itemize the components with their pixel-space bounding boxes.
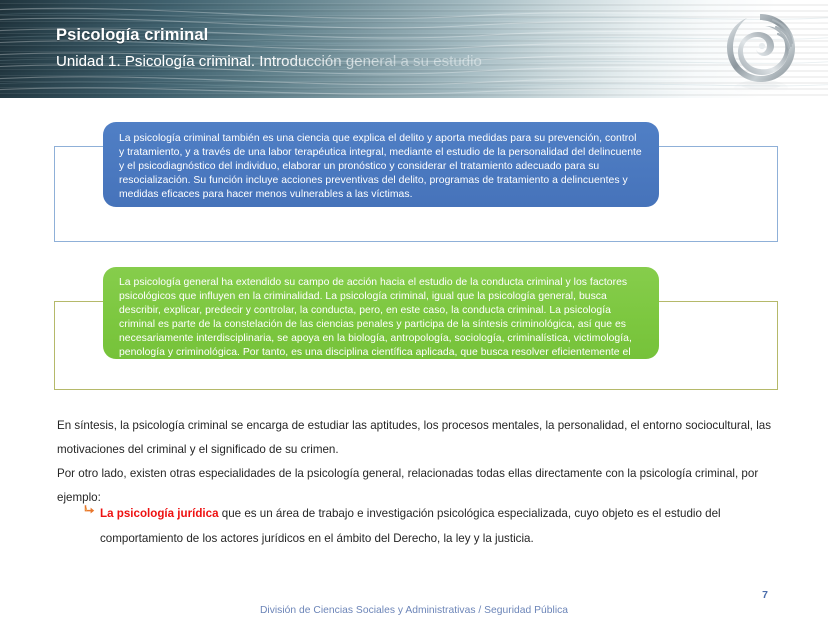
- arrow-bullet-icon: [84, 501, 98, 519]
- page-subtitle: Unidad 1. Psicología criminal. Introducc…: [56, 53, 482, 70]
- list-item-keyword: La psicología jurídica: [100, 507, 219, 520]
- page-title: Psicología criminal: [56, 26, 208, 45]
- list-item: La psicología jurídica que es un área de…: [84, 501, 784, 551]
- list-item-text: La psicología jurídica que es un área de…: [98, 501, 784, 551]
- header-stripe-texture: [0, 0, 828, 98]
- slide-header-banner: Unidad 1. Psicología criminal. Introducc…: [0, 0, 828, 98]
- page-number: 7: [762, 589, 768, 601]
- body-paragraph-1: En síntesis, la psicología criminal se e…: [57, 414, 797, 462]
- footer-label: División de Ciencias Sociales y Administ…: [0, 605, 828, 616]
- header-wave-decoration: [0, 0, 828, 98]
- green-callout-box: La psicología general ha extendido su ca…: [103, 267, 659, 359]
- blue-callout-box: La psicología criminal también es una ci…: [103, 122, 659, 207]
- body-text-block: En síntesis, la psicología criminal se e…: [57, 414, 797, 510]
- unadm-swirl-logo-icon: [717, 8, 803, 100]
